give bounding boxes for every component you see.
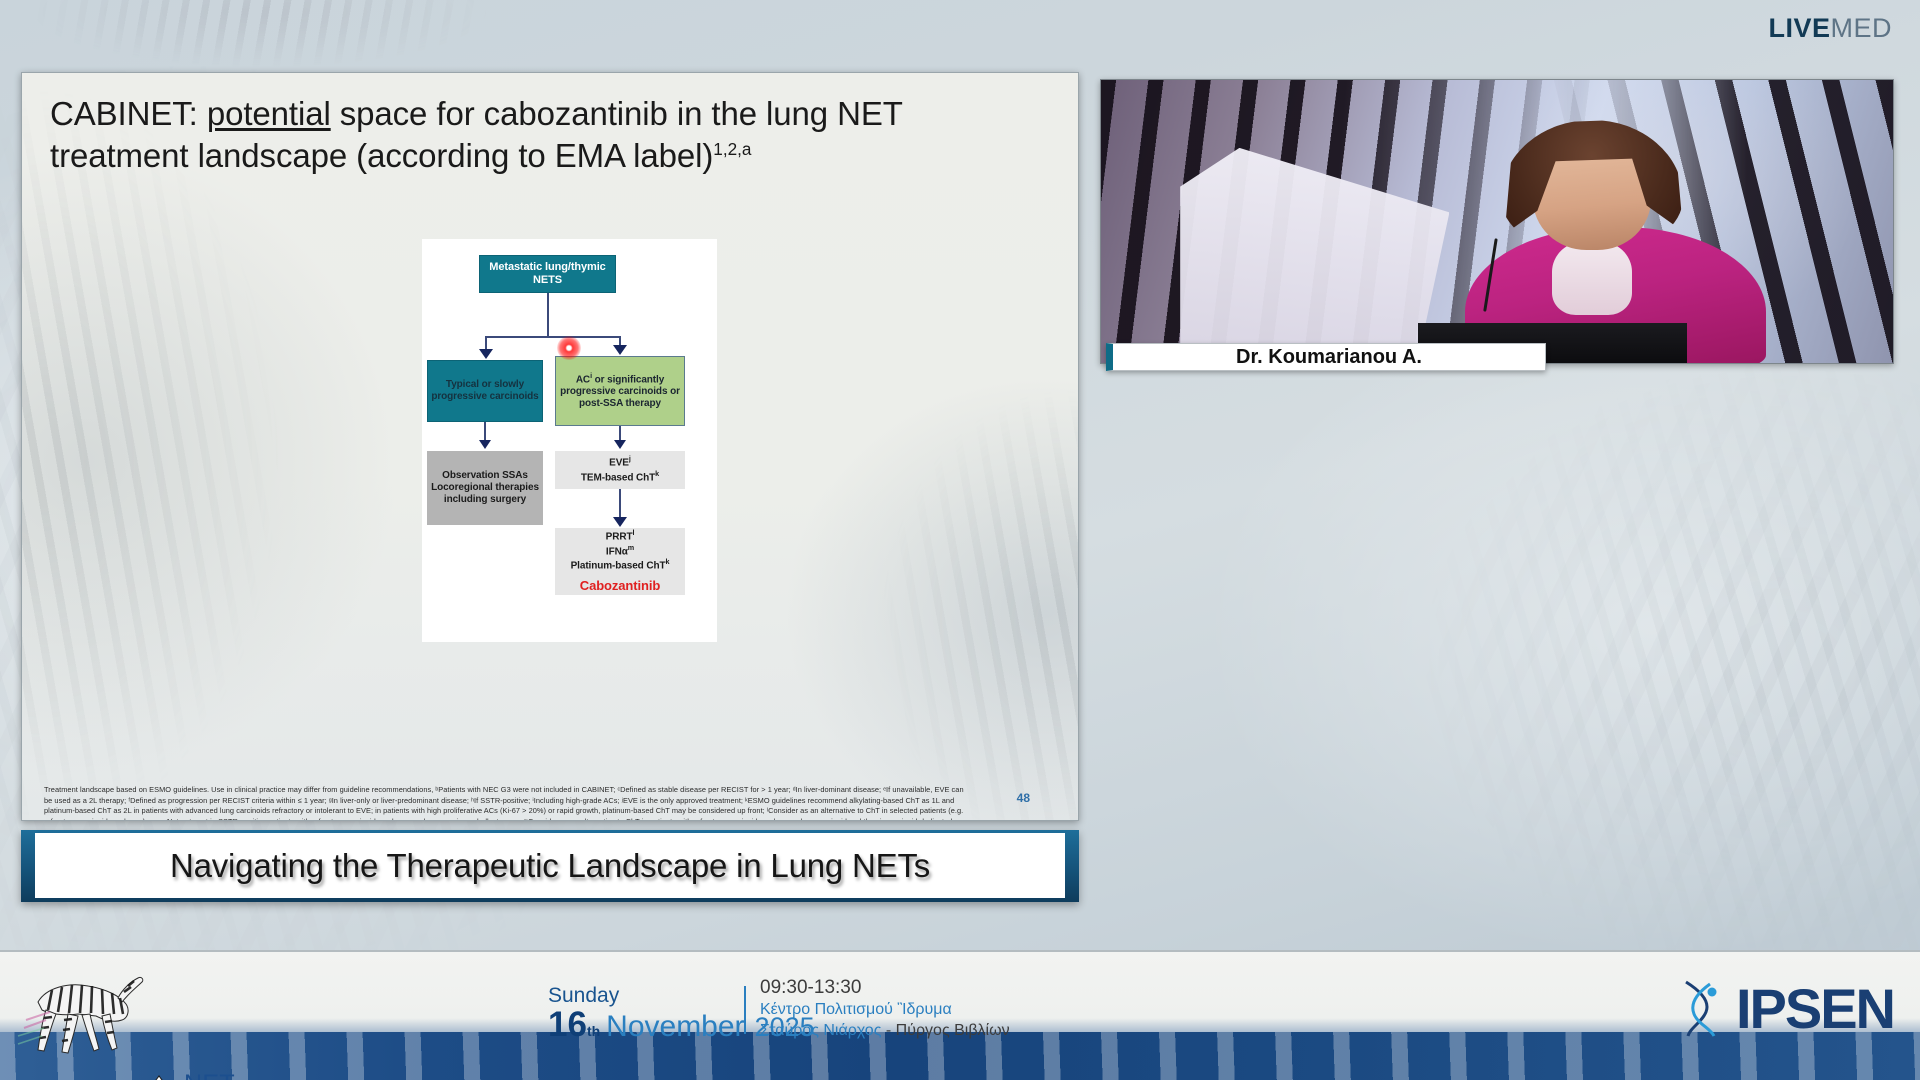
venue-line-2-blue: Σταύρος Νιάρχος [760, 1022, 881, 1039]
event-day-number: 16 [548, 1007, 587, 1042]
arrow-to-prrt [613, 517, 627, 527]
arrow-to-left-box [479, 349, 493, 359]
venue-line-2: Σταύρος Νιάρχος - Πύργος Βιβλίων [760, 1021, 1010, 1042]
arrow-to-observation [479, 440, 491, 449]
flow-box-ac-progressive-carcinoids: ACi or significantly progressive carcino… [555, 356, 685, 426]
speaker-name-label: Dr. Koumarianou A. [1106, 343, 1546, 371]
livemed-logo-med: MED [1831, 13, 1893, 43]
slide-title-superscript: 1,2,a [713, 139, 751, 159]
connector-split-horizontal [485, 336, 621, 338]
running-zebra-illustration [16, 958, 146, 1058]
event-venue: 09:30-13:30 Κέντρο Πολιτισμού Ἲδρυμα Στα… [760, 976, 1010, 1042]
slide-title-underlined: potential [207, 95, 331, 132]
footnote-line-3: platinum-based ChT as 2L in patients wit… [44, 806, 1064, 817]
flow-label-cabozantinib: Cabozantinib [580, 578, 660, 594]
footnote-line-1: Treatment landscape based on ESMO guidel… [44, 785, 1064, 796]
session-title-inner: Navigating the Therapeutic Landscape in … [35, 833, 1065, 898]
session-title: Navigating the Therapeutic Landscape in … [170, 847, 930, 885]
logo-line-net: NET [184, 1072, 373, 1080]
flow-box-prrt-cabozantinib: PRRTlIFNαmPlatinum-based ChTk Cabozantin… [555, 528, 685, 595]
footnote-line-2: be used as a 2L therapy; ᶠDefined as pro… [44, 796, 1064, 807]
slide-title: CABINET: potential space for cabozantini… [50, 93, 1038, 177]
event-time: 09:30-13:30 [760, 976, 1010, 1001]
arrow-to-eve [614, 440, 626, 449]
session-title-bar: Navigating the Therapeutic Landscape in … [21, 830, 1079, 902]
arrow-to-right-box [613, 345, 627, 355]
event-month: November [606, 1010, 744, 1044]
connector-left-to-observation [484, 422, 486, 442]
venue-line-2-dark: - Πύργος Βιβλίων [881, 1022, 1009, 1039]
ipsen-sponsor-logo: IPSEN [1676, 978, 1894, 1040]
flow-box-right-text: ACi or significantly progressive carcino… [556, 372, 684, 411]
zebra-ribbon-icon [140, 1074, 178, 1080]
event-footer: NET MASTERCLASS From Current Standards t… [0, 950, 1920, 1080]
slide-title-part1: CABINET: [50, 95, 207, 132]
speaker-video-frame [1101, 80, 1893, 363]
net-masterclass-title: NET MASTERCLASS [184, 1072, 373, 1080]
speaker-video[interactable] [1100, 79, 1894, 364]
flow-box-metastatic-nets: Metastatic lung/thymic NETS [479, 255, 616, 293]
flow-box-eve-tem: EVEjTEM-based ChTk [555, 451, 685, 489]
livemed-logo-live: LIVE [1768, 13, 1830, 43]
flow-box-typical-carcinoids: Typical or slowly progressive carcinoids [427, 360, 543, 422]
footnote-line-4: refractory carcinoid syndrome) or as 1L … [44, 817, 1064, 821]
livemed-logo: LIVEMED [1768, 15, 1892, 42]
flow-box-prrt-text: PRRTlIFNαmPlatinum-based ChTk [571, 529, 670, 573]
treatment-flow-diagram: Metastatic lung/thymic NETS Typical or s… [422, 239, 717, 642]
speaker-blouse [1552, 241, 1631, 315]
event-day-suffix: th [587, 1023, 600, 1039]
venue-line-1: Κέντρο Πολιτισμού Ἲδρυμα [760, 1000, 1010, 1021]
flow-box-eve-text: EVEjTEM-based ChTk [581, 455, 659, 484]
slide-number: 48 [1017, 791, 1030, 805]
venue-divider [744, 986, 746, 1034]
ipsen-wordmark: IPSEN [1736, 981, 1894, 1037]
connector-eve-to-prrt [619, 489, 621, 519]
presentation-slide[interactable]: CABINET: potential space for cabozantini… [21, 72, 1079, 821]
ipsen-helix-icon [1676, 978, 1728, 1040]
flow-box-observation: Observation SSAs Locoregional therapies … [427, 451, 543, 525]
connector-stem-top [547, 293, 549, 337]
slide-footnotes: Treatment landscape based on ESMO guidel… [44, 785, 1064, 821]
